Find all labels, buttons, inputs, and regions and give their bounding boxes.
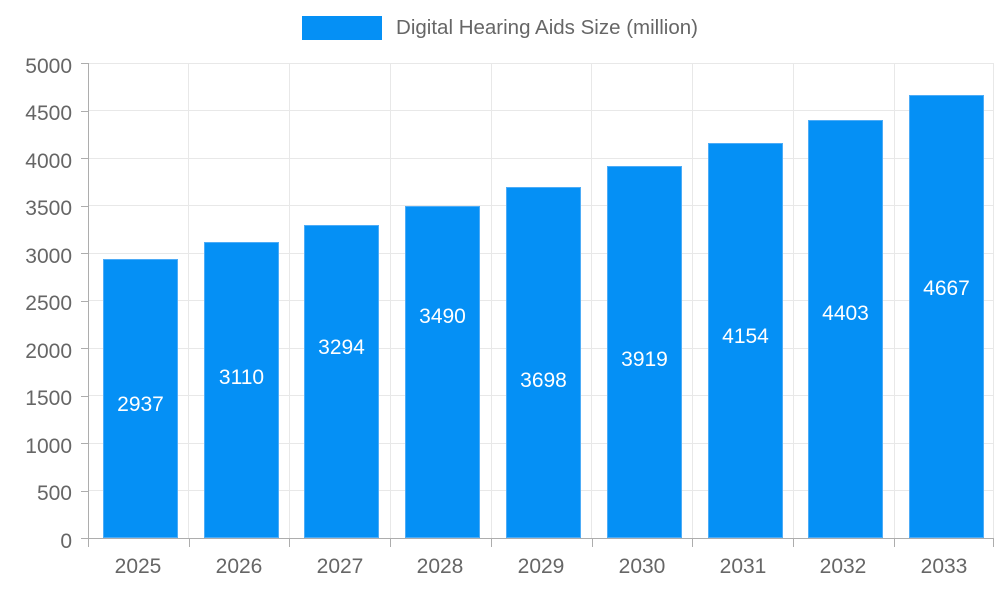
x-tick-mark: [894, 539, 895, 547]
gridline-vertical: [188, 63, 189, 538]
legend-color-swatch-icon: [302, 16, 382, 40]
x-tick-label-2033: 2033: [894, 556, 994, 577]
gridline-vertical: [390, 63, 391, 538]
y-tick-label: 4000: [2, 151, 72, 172]
x-tick-label-2027: 2027: [290, 556, 390, 577]
legend-entry-digital-hearing-aids-size[interactable]: Digital Hearing Aids Size (million): [302, 16, 698, 40]
y-tick-mark: [81, 443, 88, 444]
gridline-vertical: [289, 63, 290, 538]
x-tick-mark: [189, 539, 190, 547]
bar-2025[interactable]: 2937: [103, 259, 178, 538]
bar-value-label: 4154: [709, 326, 782, 347]
y-tick-label: 2000: [2, 341, 72, 362]
bar-value-label: 3919: [608, 349, 681, 370]
bar-2031[interactable]: 4154: [708, 143, 783, 538]
x-tick-label-2032: 2032: [793, 556, 893, 577]
x-tick-label-2026: 2026: [189, 556, 289, 577]
gridline-vertical: [793, 63, 794, 538]
y-tick-label: 2500: [2, 293, 72, 314]
x-tick-mark: [793, 539, 794, 547]
x-tick-mark: [993, 539, 994, 547]
plot-area: 2937 3110 3294 3490 3698 3919 4154 4403 …: [88, 63, 994, 538]
x-tick-label-2029: 2029: [491, 556, 591, 577]
bar-value-label: 3294: [305, 337, 378, 358]
y-tick-label: 5000: [2, 56, 72, 77]
y-tick-label: 1000: [2, 436, 72, 457]
y-tick-label: 500: [2, 483, 72, 504]
x-tick-label-2025: 2025: [88, 556, 188, 577]
y-tick-mark: [81, 158, 88, 159]
bar-value-label: 3698: [507, 370, 580, 391]
y-tick-label: 4500: [2, 103, 72, 124]
x-tick-mark: [390, 539, 391, 547]
y-tick-mark: [81, 301, 88, 302]
gridline-vertical: [692, 63, 693, 538]
gridline-vertical: [591, 63, 592, 538]
bar-2028[interactable]: 3490: [405, 206, 480, 538]
x-tick-mark: [692, 539, 693, 547]
bar-2029[interactable]: 3698: [506, 187, 581, 538]
y-tick-label: 3000: [2, 246, 72, 267]
x-tick-label-2030: 2030: [592, 556, 692, 577]
bar-2027[interactable]: 3294: [304, 225, 379, 538]
bar-2032[interactable]: 4403: [808, 120, 883, 538]
y-tick-label: 3500: [2, 198, 72, 219]
y-tick-mark: [81, 253, 88, 254]
legend-entry-label: Digital Hearing Aids Size (million): [396, 18, 698, 39]
x-tick-mark: [289, 539, 290, 547]
bar-value-label: 3110: [205, 367, 278, 388]
y-tick-mark: [81, 111, 88, 112]
bar-2033[interactable]: 4667: [909, 95, 984, 538]
bar-value-label: 2937: [104, 394, 177, 415]
y-tick-mark: [81, 491, 88, 492]
y-axis-line: [88, 63, 89, 539]
bar-2026[interactable]: 3110: [204, 242, 279, 538]
bar-value-label: 4403: [809, 303, 882, 324]
gridline-horizontal: [88, 110, 994, 111]
y-tick-label: 0: [2, 531, 72, 552]
bar-value-label: 4667: [910, 278, 983, 299]
x-axis-line: [88, 538, 994, 539]
gridline-vertical: [993, 63, 994, 538]
y-tick-mark: [81, 206, 88, 207]
y-tick-mark: [81, 396, 88, 397]
bar-chart: Digital Hearing Aids Size (million) 0 50…: [0, 0, 1000, 600]
gridline-vertical: [491, 63, 492, 538]
chart-legend: Digital Hearing Aids Size (million): [0, 0, 1000, 56]
x-tick-mark: [88, 539, 89, 547]
x-tick-label-2028: 2028: [390, 556, 490, 577]
x-tick-label-2031: 2031: [693, 556, 793, 577]
x-tick-mark: [592, 539, 593, 547]
gridline-vertical: [894, 63, 895, 538]
bar-value-label: 3490: [406, 306, 479, 327]
y-tick-mark: [81, 348, 88, 349]
y-tick-mark: [81, 63, 88, 64]
y-tick-label: 1500: [2, 388, 72, 409]
gridline-horizontal: [88, 63, 994, 64]
y-tick-mark: [81, 538, 88, 539]
x-tick-mark: [491, 539, 492, 547]
bar-2030[interactable]: 3919: [607, 166, 682, 538]
